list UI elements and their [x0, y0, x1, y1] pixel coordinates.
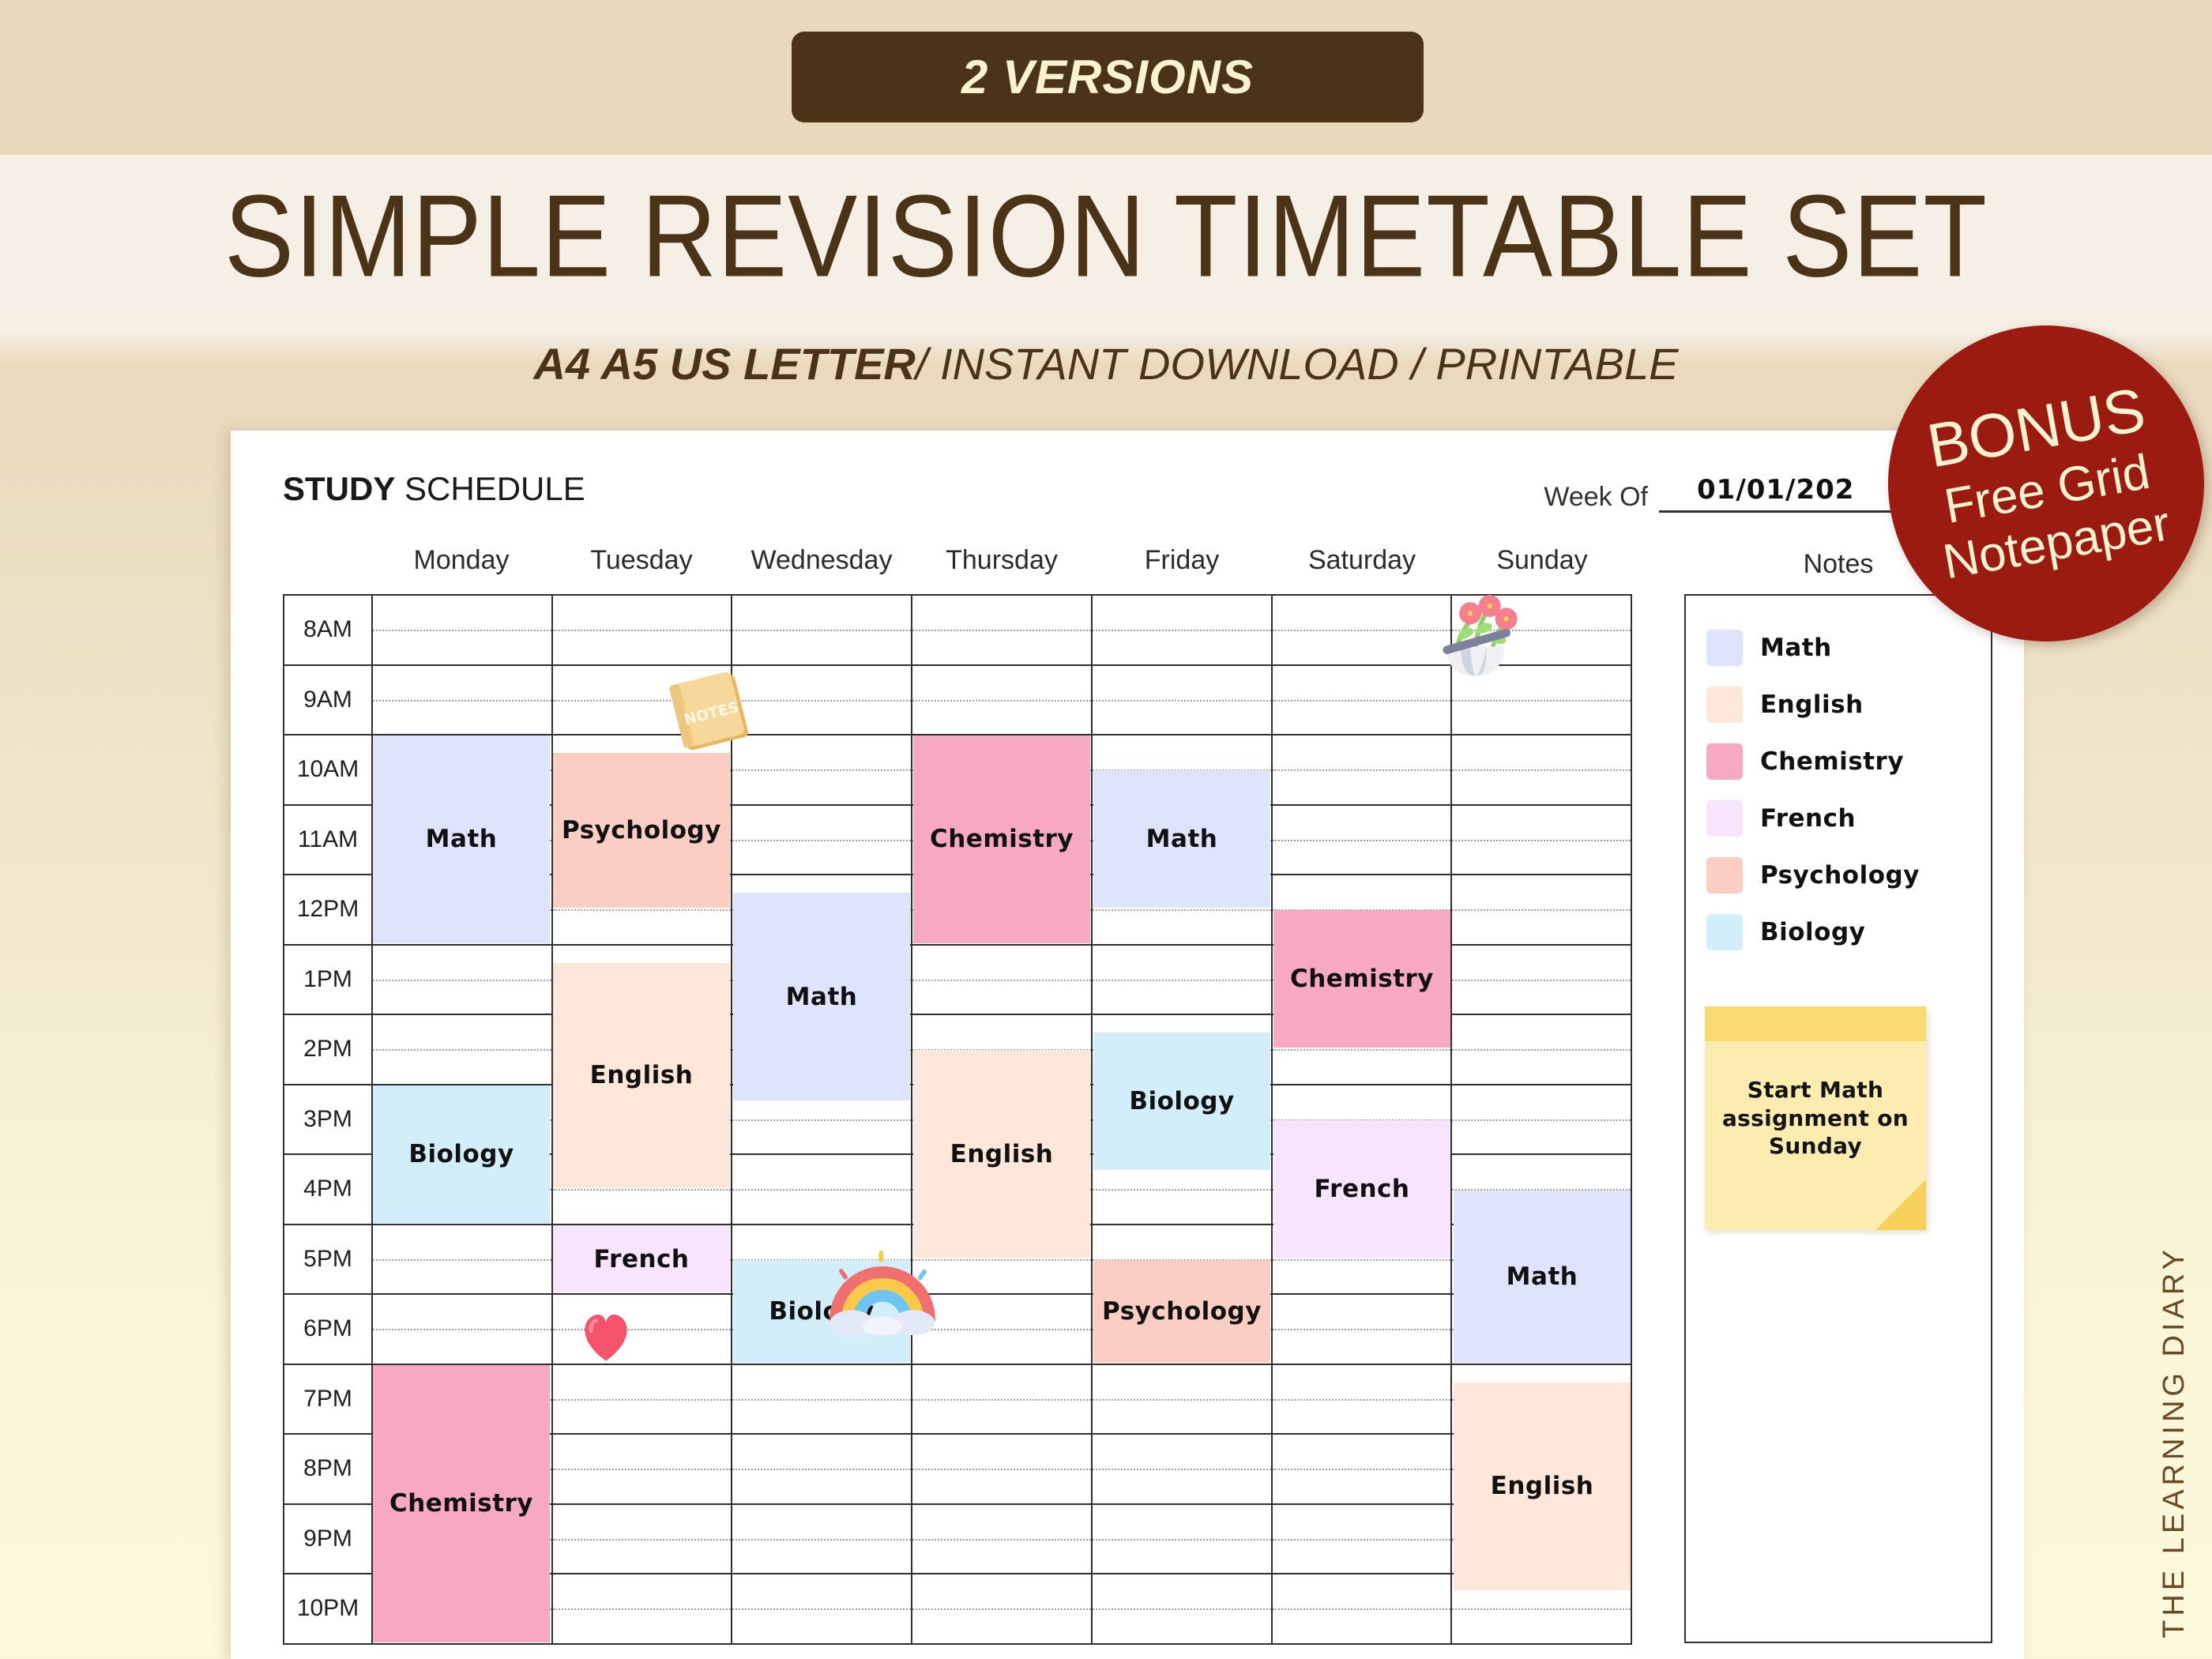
schedule-cell[interactable] — [552, 1434, 732, 1504]
schedule-cell[interactable] — [552, 1085, 732, 1155]
schedule-cell[interactable] — [732, 1434, 912, 1504]
schedule-cell[interactable] — [1451, 1574, 1631, 1644]
schedule-cell[interactable] — [1272, 735, 1452, 805]
schedule-cell[interactable] — [912, 735, 1092, 805]
schedule-cell[interactable] — [732, 875, 912, 945]
schedule-cell[interactable] — [732, 1224, 912, 1295]
schedule-cell[interactable] — [1092, 1085, 1272, 1155]
schedule-cell[interactable] — [1451, 1224, 1631, 1295]
schedule-row: 5PM — [284, 1224, 1631, 1295]
schedule-cell[interactable] — [1272, 1294, 1452, 1364]
schedule-cell[interactable] — [372, 595, 552, 665]
schedule-cell[interactable] — [372, 1434, 552, 1504]
schedule-cell[interactable] — [1272, 805, 1452, 875]
legend-item-math: Math — [1706, 619, 1975, 676]
schedule-row: 4PM — [284, 1154, 1631, 1224]
time-label-9am: 9AM — [284, 665, 372, 735]
time-label-10am: 10AM — [284, 735, 372, 805]
legend-swatch-math — [1706, 630, 1743, 666]
schedule-cell[interactable] — [552, 1294, 732, 1364]
schedule-cell[interactable] — [732, 665, 912, 735]
schedule-cell[interactable] — [1272, 1014, 1452, 1085]
schedule-row: 11AM — [284, 805, 1631, 875]
schedule-cell[interactable] — [1451, 1434, 1631, 1504]
schedule-cell[interactable] — [732, 595, 912, 665]
schedule-cell[interactable] — [1272, 595, 1452, 665]
versions-badge: 2 VERSIONS — [792, 32, 1424, 122]
time-label-10pm: 10PM — [284, 1574, 372, 1644]
legend-swatch-psychology — [1706, 857, 1743, 893]
schedule-cell[interactable] — [372, 805, 552, 875]
schedule-cell[interactable] — [732, 1154, 912, 1224]
schedule-cell[interactable] — [372, 665, 552, 735]
schedule-cell[interactable] — [1272, 1574, 1452, 1644]
subtitle-formats: A4 A5 US LETTER — [534, 338, 916, 389]
legend-label-chemistry: Chemistry — [1760, 747, 1904, 776]
schedule-cell[interactable] — [1272, 665, 1452, 735]
schedule-cell[interactable] — [732, 1364, 912, 1435]
schedule-cell[interactable] — [912, 1154, 1092, 1224]
schedule-row: 10AM — [284, 735, 1631, 805]
schedule-cell[interactable] — [372, 735, 552, 805]
schedule-row: 1PM — [284, 945, 1631, 1015]
schedule-grid: Monday Tuesday Wednesday Thursday Friday… — [283, 545, 1632, 1643]
page-title: SIMPLE REVISION TIMETABLE SET — [224, 168, 1988, 302]
schedule-cell[interactable] — [1272, 1434, 1452, 1504]
day-header-wednesday: Wednesday — [732, 545, 912, 592]
schedule-cell[interactable] — [372, 1364, 552, 1435]
schedule-cell[interactable] — [1272, 875, 1452, 945]
legend-item-biology: Biology — [1706, 904, 1975, 961]
schedule-cell[interactable] — [1092, 875, 1272, 945]
schedule-cell[interactable] — [372, 1085, 552, 1155]
legend-swatch-chemistry — [1706, 743, 1743, 780]
schedule-cell[interactable] — [1092, 1154, 1272, 1224]
legend-label-english: English — [1760, 690, 1864, 719]
time-label-7pm: 7PM — [284, 1364, 372, 1435]
schedule-cell[interactable] — [372, 945, 552, 1015]
schedule-cell[interactable] — [1451, 1014, 1631, 1085]
schedule-cell[interactable] — [552, 1154, 732, 1224]
schedule-cell[interactable] — [1451, 1294, 1631, 1364]
schedule-cell[interactable] — [1272, 945, 1452, 1015]
time-label-11am: 11AM — [284, 805, 372, 875]
schedule-row: 2PM — [284, 1014, 1631, 1085]
schedule-row: 9PM — [284, 1504, 1631, 1574]
schedule-cell[interactable] — [552, 1574, 732, 1644]
schedule-cell[interactable] — [912, 1364, 1092, 1435]
schedule-cell[interactable] — [552, 665, 732, 735]
week-of-value: 01/01/202 — [1697, 474, 1854, 506]
schedule-cell[interactable] — [552, 1014, 732, 1085]
subject-legend: MathEnglishChemistryFrenchPsychologyBiol… — [1706, 619, 1975, 961]
schedule-cell[interactable] — [912, 1434, 1092, 1504]
schedule-cell[interactable] — [1451, 875, 1631, 945]
schedule-cell[interactable] — [552, 805, 732, 875]
sticky-note-tape — [1705, 1006, 1926, 1041]
schedule-row: 8PM — [284, 1434, 1631, 1504]
schedule-cell[interactable] — [912, 1504, 1092, 1574]
schedule-cell[interactable] — [912, 805, 1092, 875]
schedule-cell[interactable] — [1272, 1504, 1452, 1574]
time-label-8pm: 8PM — [284, 1434, 372, 1504]
schedule-cell[interactable] — [372, 875, 552, 945]
schedule-cell[interactable] — [732, 1504, 912, 1574]
day-header-thursday: Thursday — [912, 545, 1092, 592]
legend-label-math: Math — [1760, 634, 1832, 662]
schedule-cell[interactable] — [1092, 1574, 1272, 1644]
schedule-cell[interactable] — [912, 1085, 1092, 1155]
schedule-row: 9AM — [284, 665, 1631, 735]
schedule-cell[interactable] — [732, 805, 912, 875]
schedule-cell[interactable] — [1451, 595, 1631, 665]
legend-item-chemistry: Chemistry — [1706, 733, 1975, 790]
legend-item-english: English — [1706, 676, 1975, 733]
schedule-cell[interactable] — [552, 1224, 732, 1295]
schedule-row: 7PM — [284, 1364, 1631, 1435]
schedule-cell[interactable] — [1092, 945, 1272, 1015]
schedule-row: 6PM — [284, 1294, 1631, 1364]
day-header-row: Monday Tuesday Wednesday Thursday Friday… — [283, 545, 1632, 592]
day-header-monday: Monday — [371, 545, 551, 592]
sticky-note-fold-shadow — [1875, 1179, 1926, 1230]
subtitle-row: A4 A5 US LETTER / INSTANT DOWNLOAD / PRI… — [0, 316, 2212, 411]
time-label-1pm: 1PM — [284, 945, 372, 1015]
schedule-cell[interactable] — [552, 875, 732, 945]
schedule-cell[interactable] — [1451, 1364, 1631, 1435]
week-of-field[interactable]: Week Of 01/01/202 — [1544, 476, 1896, 513]
week-of-input[interactable]: 01/01/202 — [1659, 476, 1896, 513]
schedule-table[interactable]: 8AM9AM10AM11AM12PM1PM2PM3PM4PM5PM6PM7PM8… — [283, 594, 1632, 1645]
schedule-cell[interactable] — [912, 875, 1092, 945]
schedule-cell[interactable] — [372, 1154, 552, 1224]
time-label-8am: 8AM — [284, 595, 372, 665]
sticky-note-text: Start Math assignment on Sunday — [1705, 1076, 1926, 1161]
schedule-cell[interactable] — [1272, 1154, 1452, 1224]
schedule-cell[interactable] — [1092, 735, 1272, 805]
schedule-cell[interactable] — [1272, 1224, 1452, 1295]
schedule-cell[interactable] — [732, 1085, 912, 1155]
legend-swatch-french — [1706, 800, 1743, 837]
brand-watermark: THE LEARNING DIARY — [2157, 1246, 2191, 1638]
schedule-cell[interactable] — [1092, 1434, 1272, 1504]
schedule-cell[interactable] — [1092, 665, 1272, 735]
time-label-12pm: 12PM — [284, 875, 372, 945]
day-header-spacer — [283, 545, 371, 592]
time-label-3pm: 3PM — [284, 1085, 372, 1155]
time-label-4pm: 4PM — [284, 1154, 372, 1224]
schedule-cell[interactable] — [912, 1574, 1092, 1644]
time-label-2pm: 2PM — [284, 1014, 372, 1085]
schedule-cell[interactable] — [1451, 805, 1631, 875]
schedule-cell[interactable] — [912, 1294, 1092, 1364]
schedule-cell[interactable] — [372, 1294, 552, 1364]
legend-swatch-biology — [1706, 914, 1743, 950]
schedule-row: 3PM — [284, 1085, 1631, 1155]
schedule-cell[interactable] — [372, 1014, 552, 1085]
schedule-cell[interactable] — [1272, 1085, 1452, 1155]
subtitle-details: / INSTANT DOWNLOAD / PRINTABLE — [916, 338, 1679, 389]
schedule-cell[interactable] — [732, 735, 912, 805]
schedule-cell[interactable] — [552, 1504, 732, 1574]
week-of-label: Week Of — [1544, 482, 1648, 513]
time-label-9pm: 9PM — [284, 1504, 372, 1574]
schedule-cell[interactable] — [912, 595, 1092, 665]
time-label-5pm: 5PM — [284, 1224, 372, 1295]
schedule-cell[interactable] — [1092, 1364, 1272, 1435]
schedule-cell[interactable] — [552, 595, 732, 665]
day-header-saturday: Saturday — [1272, 545, 1452, 592]
schedule-cell[interactable] — [1092, 1014, 1272, 1085]
legend-label-biology: Biology — [1760, 918, 1865, 946]
schedule-cell[interactable] — [1451, 665, 1631, 735]
title-band: SIMPLE REVISION TIMETABLE SET — [0, 155, 2212, 316]
notes-panel: MathEnglishChemistryFrenchPsychologyBiol… — [1684, 594, 1992, 1643]
schedule-cell[interactable] — [1092, 805, 1272, 875]
legend-label-french: French — [1760, 804, 1856, 833]
schedule-cell[interactable] — [1451, 1154, 1631, 1224]
schedule-cell[interactable] — [1451, 1085, 1631, 1155]
schedule-cell[interactable] — [912, 945, 1092, 1015]
versions-badge-label: 2 VERSIONS — [961, 50, 1254, 104]
schedule-cell[interactable] — [1451, 735, 1631, 805]
study-schedule-title-light: SCHEDULE — [395, 470, 585, 507]
timetable-sheet: STUDY SCHEDULE Week Of 01/01/202 Monday … — [231, 431, 2024, 1659]
schedule-row: 12PM — [284, 875, 1631, 945]
sheet-header: STUDY SCHEDULE Week Of 01/01/202 — [283, 470, 1958, 517]
legend-item-french: French — [1706, 790, 1975, 847]
schedule-cell[interactable] — [912, 1014, 1092, 1085]
schedule-cell[interactable] — [732, 1574, 912, 1644]
schedule-cell[interactable] — [552, 735, 732, 805]
schedule-cell[interactable] — [372, 1224, 552, 1295]
schedule-cell[interactable] — [1092, 1294, 1272, 1364]
sticky-note[interactable]: Start Math assignment on Sunday — [1705, 1006, 1926, 1230]
study-schedule-title: STUDY SCHEDULE — [283, 470, 585, 508]
day-header-sunday: Sunday — [1452, 545, 1632, 592]
schedule-cell[interactable] — [1451, 1504, 1631, 1574]
schedule-row: 8AM — [284, 595, 1631, 665]
legend-swatch-english — [1706, 687, 1743, 723]
schedule-cell[interactable] — [372, 1504, 552, 1574]
schedule-cell[interactable] — [552, 945, 732, 1015]
day-header-tuesday: Tuesday — [551, 545, 732, 592]
legend-label-psychology: Psychology — [1760, 861, 1920, 890]
schedule-cell[interactable] — [1451, 945, 1631, 1015]
schedule-cell[interactable] — [372, 1574, 552, 1644]
time-label-6pm: 6PM — [284, 1294, 372, 1364]
study-schedule-title-strong: STUDY — [283, 470, 395, 507]
legend-item-psychology: Psychology — [1706, 847, 1975, 904]
schedule-cell[interactable] — [732, 945, 912, 1015]
day-header-friday: Friday — [1092, 545, 1272, 592]
schedule-cell[interactable] — [1092, 1504, 1272, 1574]
schedule-cell[interactable] — [1272, 1364, 1452, 1435]
schedule-cell[interactable] — [1092, 1224, 1272, 1295]
schedule-cell[interactable] — [912, 665, 1092, 735]
schedule-cell[interactable] — [732, 1014, 912, 1085]
schedule-cell[interactable] — [1092, 595, 1272, 665]
schedule-cell[interactable] — [912, 1224, 1092, 1295]
schedule-row: 10PM — [284, 1574, 1631, 1644]
schedule-cell[interactable] — [732, 1294, 912, 1364]
schedule-cell[interactable] — [552, 1364, 732, 1435]
